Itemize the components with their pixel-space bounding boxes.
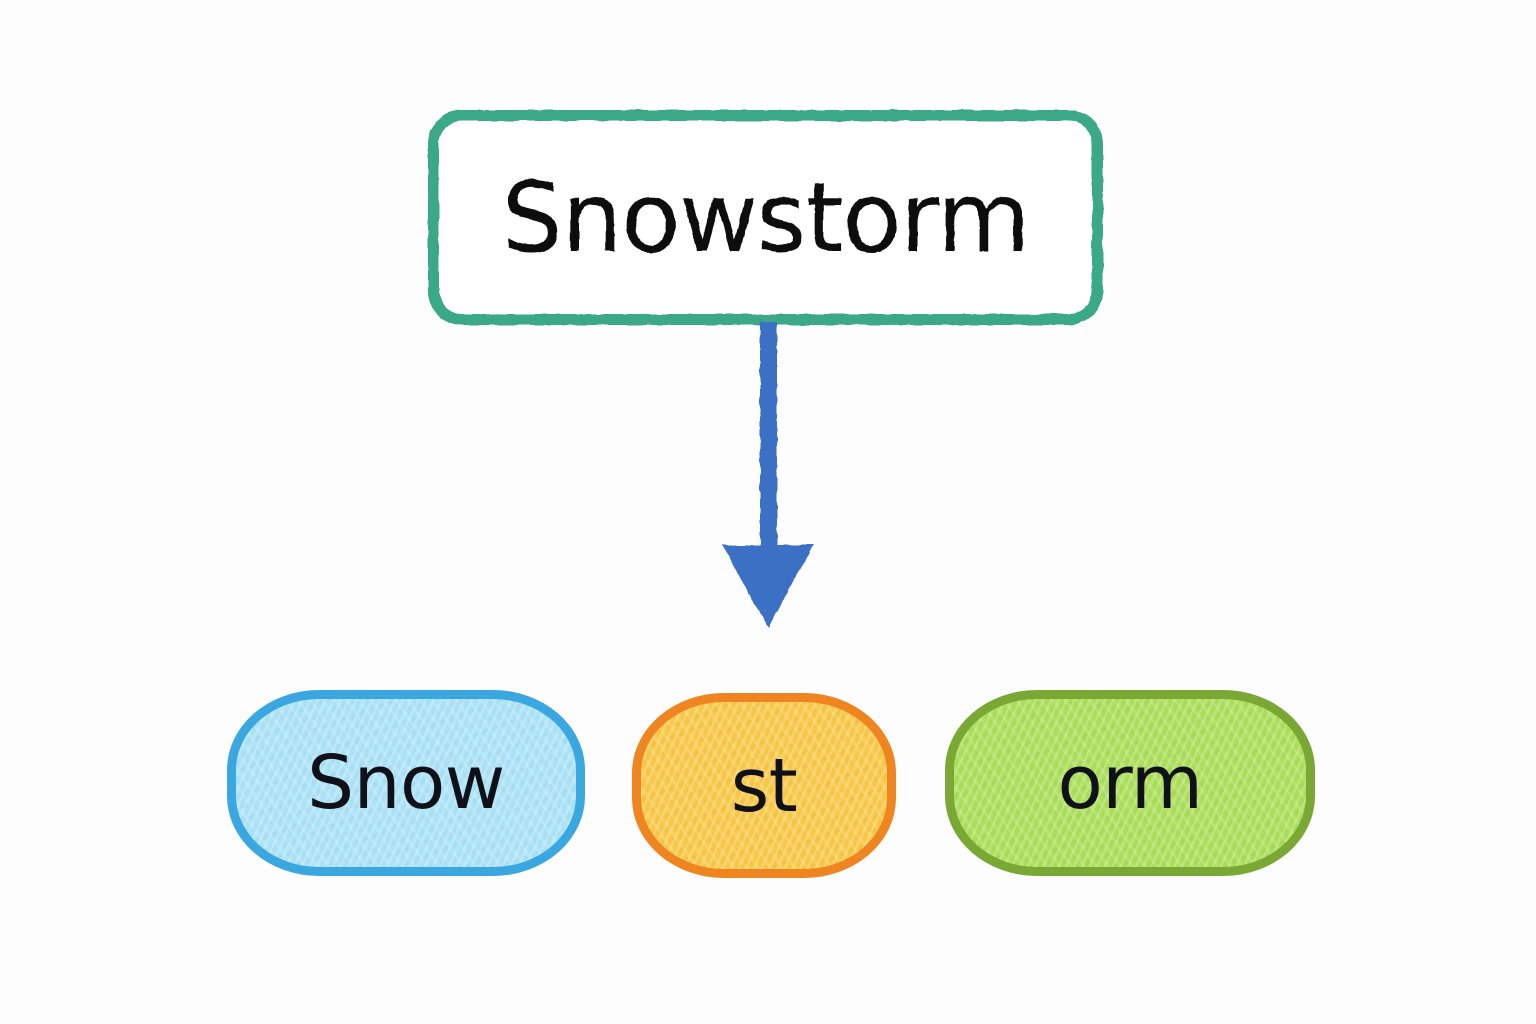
arrow-connector [716, 322, 820, 634]
leaf-node-st[interactable]: st [632, 693, 896, 878]
leaf-node-label: orm [1058, 746, 1203, 820]
diagram-canvas: Snowstorm Snow st orm [0, 0, 1536, 1024]
leaf-node-snow[interactable]: Snow [227, 690, 585, 876]
root-node-snowstorm[interactable]: Snowstorm [428, 110, 1103, 325]
leaf-node-label: Snow [307, 746, 505, 820]
leaf-node-label: st [731, 749, 798, 823]
leaf-node-orm[interactable]: orm [945, 690, 1315, 876]
root-node-label: Snowstorm [502, 170, 1030, 266]
down-arrow-icon [716, 322, 820, 634]
